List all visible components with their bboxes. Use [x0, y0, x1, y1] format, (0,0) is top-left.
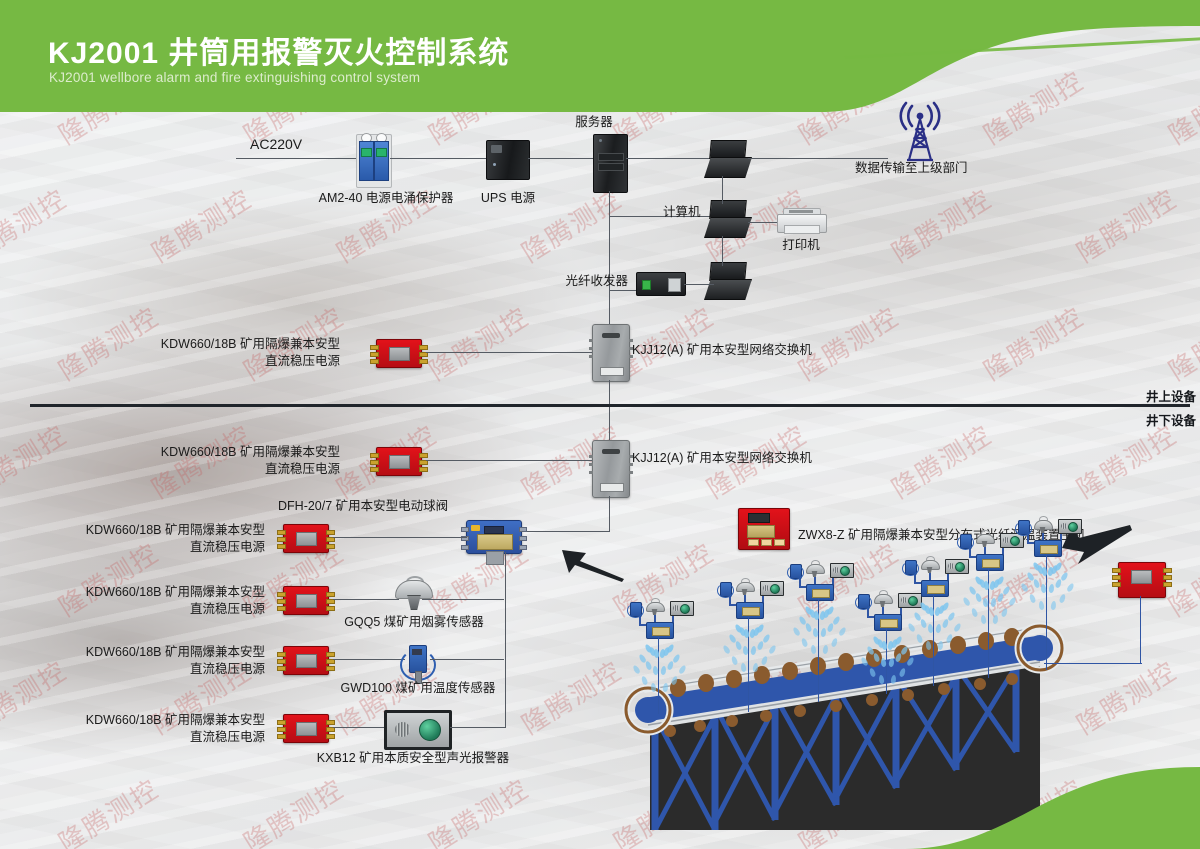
water-droplet — [661, 666, 667, 676]
wire-pc2-pc3 — [722, 236, 723, 266]
page-header: KJ2001 井筒用报警灭火控制系统 KJ2001 wellbore alarm… — [0, 0, 1200, 112]
water-droplet — [860, 657, 869, 667]
water-droplet — [873, 653, 881, 663]
wire-switch-to-valve-bus — [520, 531, 610, 532]
media-converter-device — [636, 272, 686, 296]
page-title: KJ2001 井筒用报警灭火控制系统 — [48, 28, 509, 72]
ball-valve-device — [466, 520, 522, 554]
wire-sensors-trunk — [505, 552, 506, 728]
water-droplet — [722, 645, 731, 655]
wire-pc2-printer — [748, 222, 780, 223]
printer-label: 打印机 — [762, 237, 840, 254]
sound-light-alarm-device — [384, 710, 452, 750]
water-droplet — [652, 666, 658, 676]
power-supply-1-line2: 直流稳压电源 — [75, 539, 265, 556]
media-converter-label: 光纤收发器 — [508, 273, 628, 290]
water-spray-icon — [861, 630, 913, 670]
ups-device — [486, 140, 530, 180]
water-droplet — [821, 628, 827, 638]
water-spray-icon — [633, 638, 685, 678]
spd-label: AM2-40 电源电涌保护器 — [306, 190, 466, 207]
water-droplet — [812, 628, 818, 638]
water-droplet — [645, 661, 653, 671]
wire-psu-ug-to-switch — [426, 460, 592, 461]
ball-valve-label: DFH-20/7 矿用本安型电动球阀 — [278, 498, 448, 515]
diagram-page: 隆腾测控隆腾测控隆腾测控隆腾测控隆腾测控隆腾测控隆腾测控隆腾测控隆腾测控隆腾测控… — [0, 0, 1200, 849]
water-droplet — [907, 623, 916, 633]
water-droplet — [996, 575, 1005, 585]
water-spray-icon — [1021, 556, 1073, 596]
above-ground-label: 井上设备 — [1146, 386, 1196, 405]
spray-node-7 — [1018, 516, 1080, 556]
power-supply-ug-top-device — [376, 447, 422, 476]
ac-input-label: AC220V — [250, 136, 302, 153]
wire-ps4-to-alarm — [333, 727, 385, 728]
water-droplet — [826, 605, 835, 615]
spray-node-5 — [905, 556, 967, 596]
server-label: 服务器 — [562, 114, 626, 131]
power-supply-4-line2: 直流稳压电源 — [75, 729, 265, 746]
water-droplet — [880, 658, 886, 668]
water-droplet — [894, 635, 903, 645]
water-spray-icon — [908, 596, 960, 636]
wire-media-to-switch — [609, 290, 610, 326]
temperature-sensor-device — [399, 640, 433, 684]
power-supply-2-device — [283, 586, 329, 615]
wire-smoke-to-trunk — [422, 599, 504, 600]
wire-switch-down — [609, 496, 610, 532]
computer-1 — [704, 140, 750, 178]
server-device — [593, 134, 628, 193]
smoke-sensor-device — [393, 574, 433, 612]
smoke-sensor-label: GQQ5 煤矿用烟雾传感器 — [340, 614, 488, 631]
water-droplet — [751, 646, 757, 656]
wire-temp-to-trunk — [430, 659, 504, 660]
water-droplet — [1054, 561, 1063, 571]
wire-red-to-conveyor — [1140, 596, 1141, 664]
ups-label: UPS 电源 — [470, 190, 546, 207]
water-droplet — [982, 598, 988, 608]
power-supply-2-line1: KDW660/18B 矿用隔爆兼本安型 — [75, 584, 265, 601]
temperature-sensor-label: GWD100 煤矿用温度传感器 — [339, 680, 497, 697]
power-supply-surface-line2: 直流稳压电源 — [150, 353, 340, 370]
spray-node-2 — [720, 578, 782, 618]
power-supply-1-device — [283, 524, 329, 553]
wire-conveyor-head-link — [1044, 663, 1142, 664]
water-droplet — [975, 593, 983, 603]
power-supply-ug-top-line1: KDW660/18B 矿用隔爆兼本安型 — [150, 444, 340, 461]
spray-node-3 — [790, 560, 852, 600]
water-droplet — [920, 619, 928, 629]
switch-underground-device — [592, 440, 630, 498]
water-droplet — [962, 597, 971, 607]
water-droplet — [666, 643, 675, 653]
computer-label: 计算机 — [663, 204, 701, 221]
sound-light-alarm-label: KXB12 矿用本质安全型声光报警器 — [313, 750, 513, 767]
water-droplet — [991, 598, 997, 608]
switch-surface-label: KJJ12(A) 矿用本安型网络交换机 — [632, 342, 812, 359]
page-subtitle: KJ2001 wellbore alarm and fire extinguis… — [49, 70, 420, 85]
water-spray-icon — [963, 570, 1015, 610]
below-ground-label: 井下设备 — [1146, 410, 1196, 429]
wire-media-to-pc3 — [684, 284, 714, 285]
water-droplet — [742, 646, 748, 656]
antenna-icon — [888, 100, 952, 162]
spd-device — [356, 134, 390, 186]
spray-node-1 — [630, 598, 692, 638]
printer-device — [777, 208, 825, 238]
power-supply-4-device — [283, 714, 329, 743]
water-droplet — [632, 665, 641, 675]
wire-ps2-to-smoke — [333, 599, 399, 600]
water-droplet — [1040, 584, 1046, 594]
water-droplet — [792, 627, 801, 637]
water-droplet — [1033, 579, 1041, 589]
spray-node-6 — [960, 530, 1022, 570]
wire-ps1-to-valve — [333, 537, 467, 538]
wire-spd-to-ups — [390, 158, 490, 159]
water-droplet — [735, 641, 743, 651]
water-droplet — [805, 623, 813, 633]
switch-underground-label: KJJ12(A) 矿用本安型网络交换机 — [632, 450, 812, 467]
power-supply-4-line1: KDW660/18B 矿用隔爆兼本安型 — [75, 712, 265, 729]
conveyor-control-red-device — [1118, 562, 1166, 598]
water-spray-icon — [793, 600, 845, 640]
wire-alarm-to-trunk — [450, 727, 506, 728]
wire-pc1-pc2 — [722, 176, 723, 204]
power-supply-1-line1: KDW660/18B 矿用隔爆兼本安型 — [75, 522, 265, 539]
water-spray-icon — [723, 618, 775, 658]
water-droplet — [927, 624, 933, 634]
water-droplet — [1049, 584, 1055, 594]
water-droplet — [936, 624, 942, 634]
power-supply-3-line2: 直流稳压电源 — [75, 661, 265, 678]
power-supply-surface-device — [376, 339, 422, 368]
water-droplet — [941, 601, 950, 611]
water-droplet — [1020, 583, 1029, 593]
wire-ac-to-spd — [236, 158, 362, 159]
power-supply-3-line1: KDW660/18B 矿用隔爆兼本安型 — [75, 644, 265, 661]
power-supply-ug-top-line2: 直流稳压电源 — [150, 461, 340, 478]
wire-ps3-to-temp — [333, 659, 405, 660]
power-supply-3-device — [283, 646, 329, 675]
uplink-label: 数据传输至上级部门 — [855, 160, 968, 177]
switch-surface-device — [592, 324, 630, 382]
water-droplet — [756, 623, 765, 633]
wire-psu-surface-to-switch — [426, 352, 592, 353]
computer-3 — [704, 262, 750, 300]
water-droplet — [889, 658, 895, 668]
wire-trunk-surface-to-underground — [609, 380, 610, 448]
computer-2 — [704, 200, 750, 238]
power-supply-surface-line1: KDW660/18B 矿用隔爆兼本安型 — [150, 336, 340, 353]
power-supply-2-line2: 直流稳压电源 — [75, 601, 265, 618]
wire-ups-to-server — [528, 158, 594, 159]
ground-level-divider — [30, 404, 1190, 407]
